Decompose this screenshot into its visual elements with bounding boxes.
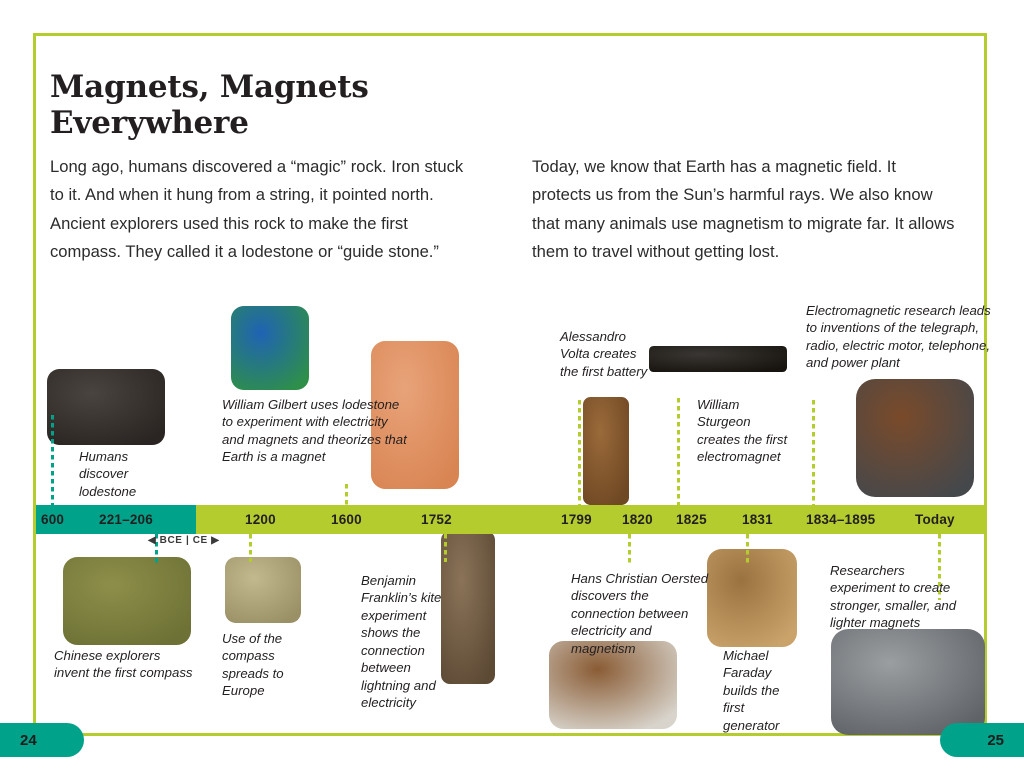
timeline-tick-221-206: 221–206 bbox=[99, 505, 153, 534]
page-number-left: 24 bbox=[0, 723, 84, 757]
leader-line-above-1 bbox=[345, 484, 348, 505]
timeline-tick-1831: 1831 bbox=[742, 505, 773, 534]
timeline-tick-1200: 1200 bbox=[245, 505, 276, 534]
earth-globe-image bbox=[230, 305, 310, 391]
timeline-caption-below-4: Michael Faraday builds the first generat… bbox=[723, 647, 803, 734]
timeline-caption-below-2: Benjamin Franklin’s kite experiment show… bbox=[361, 572, 453, 711]
timeline-tick-1600: 1600 bbox=[331, 505, 362, 534]
timeline-caption-above-2: Alessandro Volta creates the first batte… bbox=[560, 328, 652, 380]
leader-line-above-2 bbox=[578, 400, 581, 505]
timeline-caption-below-3: Hans Christian Oersted discovers the con… bbox=[571, 570, 713, 657]
timeline-tick-600: 600 bbox=[41, 505, 64, 534]
book-spread: Magnets, Magnets Everywhere Long ago, hu… bbox=[0, 0, 1024, 779]
assorted-magnets-image bbox=[830, 628, 986, 736]
lodestone-rock-image bbox=[46, 368, 166, 446]
timeline-tick-1752: 1752 bbox=[421, 505, 452, 534]
leader-line-below-2 bbox=[444, 534, 447, 562]
timeline-caption-above-4: Electromagnetic research leads to invent… bbox=[806, 302, 994, 372]
leader-line-below-1 bbox=[249, 534, 252, 562]
intro-column-right: Today, we know that Earth has a magnetic… bbox=[532, 153, 958, 267]
leader-line-above-3 bbox=[677, 398, 680, 505]
leader-line-above-4 bbox=[812, 400, 815, 505]
timeline-caption-below-5: Researchers experiment to create stronge… bbox=[830, 562, 962, 632]
voltaic-pile-image bbox=[582, 396, 630, 506]
timeline-tick-today: Today bbox=[915, 505, 955, 534]
page-number-right: 25 bbox=[940, 723, 1024, 757]
timeline-tick-1825: 1825 bbox=[676, 505, 707, 534]
timeline-caption-below-1: Use of the compass spreads to Europe bbox=[222, 630, 318, 700]
leader-line-above-0 bbox=[51, 415, 54, 505]
electromagnet-bar-image bbox=[648, 345, 788, 373]
chinese-compass-image bbox=[62, 556, 192, 646]
faraday-generator-image bbox=[706, 548, 798, 648]
page-title: Magnets, Magnets Everywhere bbox=[50, 69, 470, 142]
timeline-caption-below-0: Chinese explorers invent the first compa… bbox=[54, 647, 194, 682]
timeline-caption-above-0: Humans discover lodestone bbox=[79, 448, 159, 500]
era-marker: ◀ BCE | CE ▶ bbox=[148, 535, 220, 546]
timeline-tick-1799: 1799 bbox=[561, 505, 592, 534]
dynamo-machine-image bbox=[855, 378, 975, 498]
leader-line-below-4 bbox=[746, 534, 749, 564]
timeline-tick-1820: 1820 bbox=[622, 505, 653, 534]
european-compass-image bbox=[224, 556, 302, 624]
leader-line-below-3 bbox=[628, 534, 631, 564]
timeline-caption-above-3: William Sturgeon creates the first elect… bbox=[697, 396, 795, 466]
timeline-tick-1834-1895: 1834–1895 bbox=[806, 505, 875, 534]
timeline-caption-above-1: William Gilbert uses lodestone to experi… bbox=[222, 396, 410, 466]
intro-column-left: Long ago, humans discovered a “magic” ro… bbox=[50, 153, 476, 267]
intro-text-columns: Long ago, humans discovered a “magic” ro… bbox=[50, 136, 958, 283]
